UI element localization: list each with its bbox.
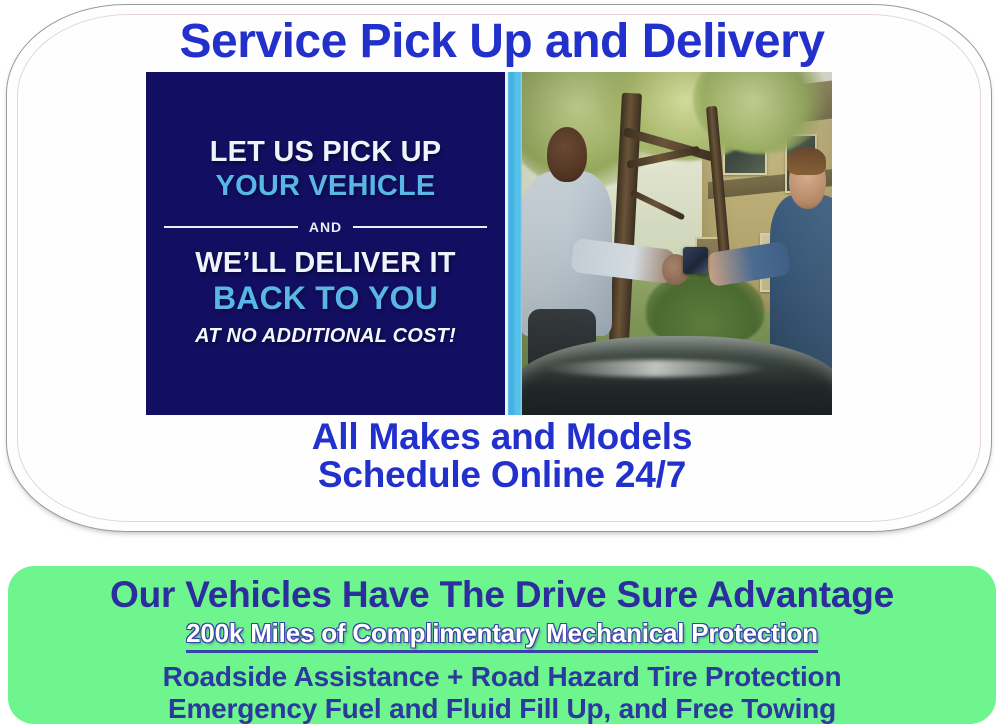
hero-photo [522, 72, 832, 415]
advantage-title: Our Vehicles Have The Drive Sure Advanta… [8, 574, 996, 616]
advantage-detail-roadside: Roadside Assistance + Road Hazard Tire P… [8, 661, 996, 693]
hero-banner-image: LET US PICK UP YOUR VEHICLE AND WE’LL DE… [146, 72, 832, 415]
hero-text-panel: LET US PICK UP YOUR VEHICLE AND WE’LL DE… [146, 72, 505, 415]
promo-subhead: All Makes and Models Schedule Online 24/… [0, 418, 1004, 494]
photo-vignette [522, 72, 832, 415]
hero-line-back-to-you: BACK TO YOU [213, 280, 438, 316]
advantage-highlight-coverage: 200k Miles of Complimentary Mechanical P… [186, 618, 818, 653]
page-title: Service Pick Up and Delivery [0, 16, 1004, 68]
promo-subhead-line-makes-models: All Makes and Models [0, 418, 1004, 456]
advantage-detail-fuel-towing: Emergency Fuel and Fluid Fill Up, and Fr… [8, 693, 996, 724]
hero-line-your-vehicle: YOUR VEHICLE [216, 169, 436, 203]
divider-rule-left [164, 226, 298, 228]
hero-line-deliver-it: WE’LL DELIVER IT [195, 247, 455, 280]
advantage-banner: Our Vehicles Have The Drive Sure Advanta… [8, 566, 996, 724]
hero-and-divider: AND [164, 219, 487, 235]
divider-rule-right [353, 226, 487, 228]
hero-and-label: AND [298, 219, 353, 235]
hero-line-no-additional-cost: AT NO ADDITIONAL COST! [195, 324, 456, 348]
hero-accent-strip [505, 72, 522, 415]
hero-line-pick-up: LET US PICK UP [210, 136, 442, 169]
promo-subhead-line-schedule-online: Schedule Online 24/7 [0, 456, 1004, 494]
